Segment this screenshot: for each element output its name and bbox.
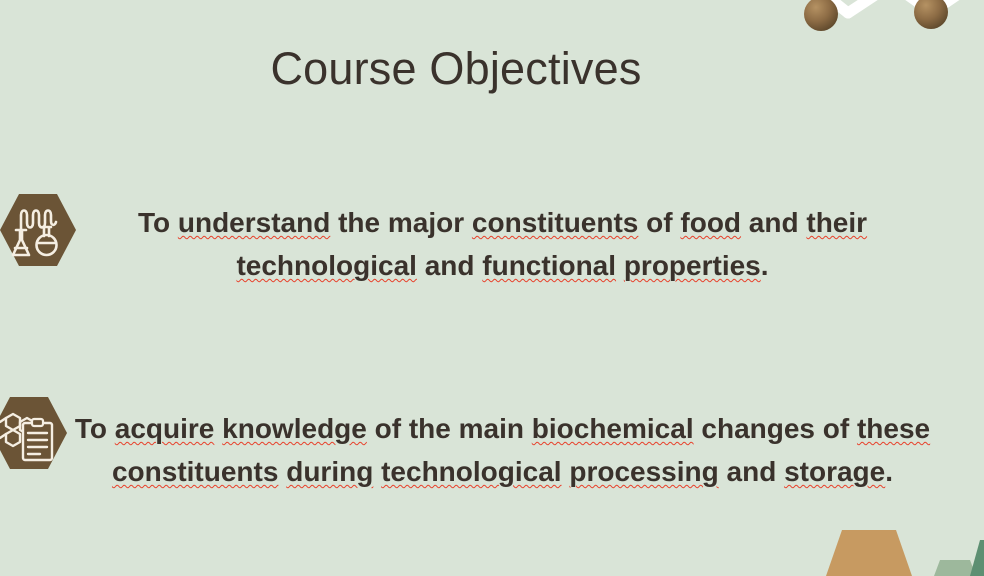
text-run: . — [761, 250, 769, 281]
text-run: the major — [330, 207, 472, 238]
objective-item-1: To understand the major constituents of … — [0, 193, 984, 308]
misspelled-word: food — [680, 207, 741, 238]
text-run: . — [885, 456, 893, 487]
misspelled-word: understand — [178, 207, 330, 238]
misspelled-word: knowledge — [222, 413, 367, 444]
misspelled-word: constituents — [112, 456, 278, 487]
misspelled-word: acquire — [115, 413, 215, 444]
text-run — [373, 456, 381, 487]
misspelled-word: biochemical — [532, 413, 694, 444]
misspelled-word: functional — [482, 250, 616, 281]
misspelled-word: properties — [624, 250, 761, 281]
text-run: To — [75, 413, 115, 444]
misspelled-word: storage — [784, 456, 885, 487]
molecule-clipboard-icon — [0, 396, 68, 470]
text-run — [616, 250, 624, 281]
text-run: To — [138, 207, 178, 238]
molecule-ball-and-stick-decoration — [760, 0, 984, 44]
misspelled-word: technological — [381, 456, 561, 487]
text-run: and — [741, 207, 806, 238]
text-run: changes of — [694, 413, 857, 444]
misspelled-word: processing — [569, 456, 718, 487]
objective-text-1[interactable]: To understand the major constituents of … — [90, 201, 915, 287]
text-run: and — [719, 456, 784, 487]
objective-item-2: To acquire knowledge of the main biochem… — [0, 396, 984, 546]
text-run: of the main — [367, 413, 532, 444]
page-title: Course Objectives — [0, 44, 912, 94]
misspelled-word: constituents — [472, 207, 638, 238]
slide-canvas: Course Objectives To understand — [0, 0, 984, 576]
misspelled-word: these — [857, 413, 930, 444]
misspelled-word: during — [286, 456, 373, 487]
text-run: and — [417, 250, 482, 281]
objective-text-2[interactable]: To acquire knowledge of the main biochem… — [70, 407, 935, 493]
text-run: of — [638, 207, 680, 238]
lab-distillation-icon — [0, 193, 77, 267]
text-run — [214, 413, 222, 444]
